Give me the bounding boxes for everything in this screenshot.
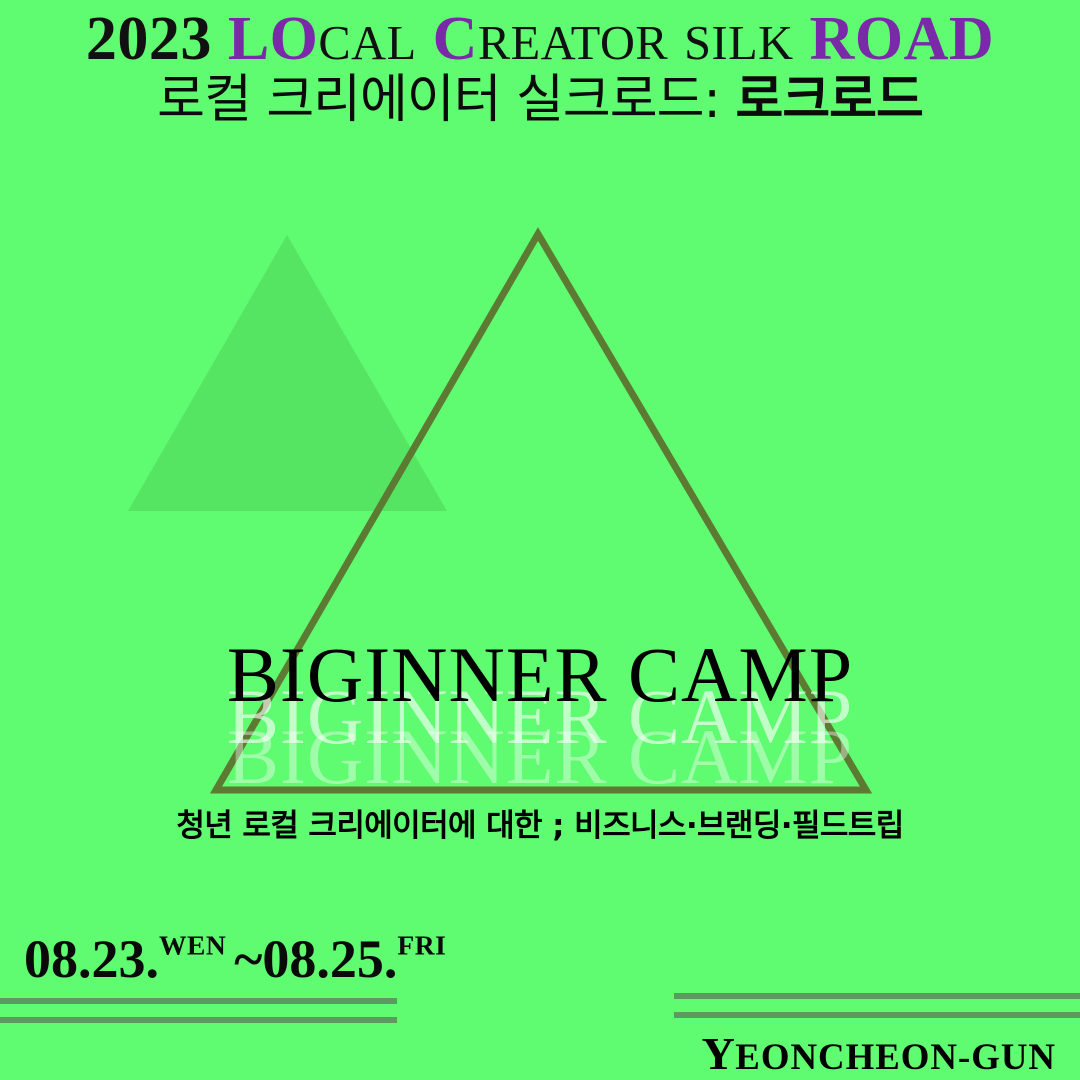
footer-rule-right bbox=[674, 993, 1080, 1018]
rule-line bbox=[674, 1012, 1080, 1018]
title-reator: REATOR bbox=[478, 17, 668, 70]
program-description: 청년 로컬 크리에이터에 대한 ; 비즈니스·브랜딩·필드트립 bbox=[0, 800, 1080, 845]
title-c-accent: C bbox=[433, 5, 478, 73]
poster-title-english: 2023 LOCAL CREATOR SILK ROAD bbox=[0, 8, 1080, 70]
title-road-accent: ROAD bbox=[810, 5, 995, 73]
title-space-1 bbox=[212, 5, 228, 73]
location-initial: Y bbox=[702, 1028, 736, 1079]
title-space-4 bbox=[794, 5, 810, 73]
title-korean-emphasis: 로크로드 bbox=[735, 70, 922, 130]
poster-title-korean: 로컬 크리에이터 실크로드: 로크로드 bbox=[0, 72, 1080, 128]
date-end-day: FRI bbox=[397, 929, 446, 960]
rule-line bbox=[0, 1017, 397, 1023]
header-block: 2023 LOCAL CREATOR SILK ROAD 로컬 크리에이터 실크… bbox=[0, 8, 1080, 128]
decorative-shapes bbox=[0, 0, 1080, 1080]
title-silk: SILK bbox=[684, 17, 793, 70]
date-end: 08.25. bbox=[262, 929, 397, 989]
rule-line bbox=[674, 993, 1080, 999]
date-start: 08.23. bbox=[24, 929, 159, 989]
title-space-2 bbox=[417, 5, 433, 73]
title-year: 2023 bbox=[86, 5, 212, 73]
date-separator: ~ bbox=[226, 929, 262, 989]
event-date-range: 08.23.WEN~08.25.FRI bbox=[24, 928, 446, 990]
title-lo-accent: LO bbox=[228, 5, 319, 73]
footer-rule-left bbox=[0, 998, 397, 1023]
main-title: BIGINNER CAMP bbox=[0, 636, 1080, 714]
location-label: YEONCHEON-GUN bbox=[0, 1027, 1080, 1080]
main-title-block: BIGINNER CAMP BIGINNER CAMP BIGINNER CAM… bbox=[0, 636, 1080, 796]
poster-canvas: 2023 LOCAL CREATOR SILK ROAD 로컬 크리에이터 실크… bbox=[0, 0, 1080, 1080]
title-korean-main: 로컬 크리에이터 실크로드: bbox=[157, 70, 735, 130]
title-cal: CAL bbox=[318, 17, 416, 70]
date-start-day: WEN bbox=[159, 929, 226, 960]
location-remainder: EONCHEON-GUN bbox=[735, 1036, 1056, 1077]
rule-line bbox=[0, 998, 397, 1004]
filled-triangle-shape bbox=[128, 235, 447, 511]
title-space-3 bbox=[668, 5, 684, 73]
